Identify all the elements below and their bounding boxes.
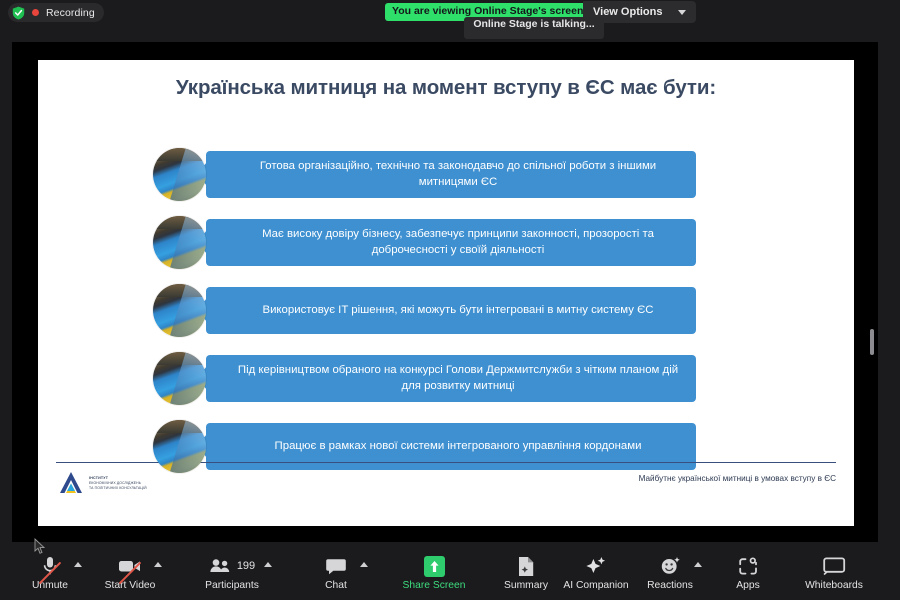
logo-line-2: ЕКОНОМІЧНИХ ДОСЛІДЖЕНЬ bbox=[89, 481, 147, 485]
ai-companion-button[interactable]: AI Companion bbox=[568, 546, 624, 600]
recording-dot-icon bbox=[32, 9, 39, 16]
participants-button[interactable]: 199 Participants bbox=[204, 546, 260, 600]
chevron-down-icon bbox=[678, 10, 686, 15]
start-video-button[interactable]: Start Video bbox=[102, 546, 158, 600]
meeting-toolbar: Unmute Start Video bbox=[0, 546, 900, 600]
reactions-smiley-icon bbox=[660, 555, 681, 577]
chat-bubble-icon bbox=[326, 555, 346, 577]
slide-title: Українська митниця на момент вступу в ЄС… bbox=[38, 76, 854, 100]
ukraine-flag-circle-icon bbox=[153, 284, 206, 337]
list-item: Має високу довіру бізнесу, забезпечує пр… bbox=[38, 216, 854, 269]
apps-button[interactable]: Apps bbox=[720, 546, 776, 600]
list-item: Готова організаційно, технічно та законо… bbox=[38, 148, 854, 201]
ai-companion-label: AI Companion bbox=[563, 580, 628, 591]
whiteboard-icon bbox=[823, 555, 846, 577]
talking-toast: Online Stage is talking... bbox=[464, 17, 604, 39]
participants-label: Participants bbox=[205, 580, 259, 591]
bullet-text: Має високу довіру бізнесу, забезпечує пр… bbox=[232, 227, 684, 258]
chat-button[interactable]: Chat bbox=[308, 546, 364, 600]
whiteboards-button[interactable]: Whiteboards bbox=[806, 546, 862, 600]
ukraine-flag-circle-icon bbox=[153, 216, 206, 269]
summary-doc-icon bbox=[517, 555, 535, 577]
camera-off-icon bbox=[118, 555, 142, 577]
unmute-button[interactable]: Unmute bbox=[22, 546, 78, 600]
unmute-label: Unmute bbox=[32, 580, 68, 591]
whiteboards-label: Whiteboards bbox=[805, 580, 863, 591]
slide-bullet-list: Готова організаційно, технічно та законо… bbox=[38, 148, 854, 488]
share-screen-icon bbox=[424, 555, 445, 577]
ukraine-flag-circle-icon bbox=[153, 352, 206, 405]
recording-indicator-group[interactable]: Recording bbox=[8, 3, 104, 22]
chat-label: Chat bbox=[325, 580, 347, 591]
institute-logo: ІНСТИТУТ ЕКОНОМІЧНИХ ДОСЛІДЖЕНЬ ТА ПОЛІТ… bbox=[58, 470, 147, 496]
chevron-up-icon[interactable] bbox=[154, 562, 162, 567]
ukraine-flag-circle-icon bbox=[153, 148, 206, 201]
bullet-text: Працює в рамках нової системи інтегрован… bbox=[275, 439, 642, 454]
bullet-bar: Має високу довіру бізнесу, забезпечує пр… bbox=[206, 219, 696, 266]
mouse-cursor bbox=[34, 538, 46, 560]
shared-view-scroll-handle[interactable] bbox=[870, 329, 874, 355]
presentation-slide: Українська митниця на момент вступу в ЄС… bbox=[38, 60, 854, 526]
summary-button[interactable]: Summary bbox=[498, 546, 554, 600]
bullet-bar: Використовує IT рішення, які можуть бути… bbox=[206, 287, 696, 334]
summary-label: Summary bbox=[504, 580, 548, 591]
bullet-bar: Готова організаційно, технічно та законо… bbox=[206, 151, 696, 198]
apps-icon bbox=[738, 555, 759, 577]
share-screen-button[interactable]: Share Screen bbox=[406, 546, 462, 600]
ukraine-flag-circle-icon bbox=[153, 420, 206, 473]
slide-footnote: Майбутнє української митниці в умовах вс… bbox=[639, 474, 836, 483]
chevron-up-icon[interactable] bbox=[264, 562, 272, 567]
zoom-meeting-window: Recording Online Stage is talking... You… bbox=[0, 0, 900, 600]
bullet-bar: Під керівництвом обраного на конкурсі Го… bbox=[206, 355, 696, 402]
list-item: Використовує IT рішення, які можуть бути… bbox=[38, 284, 854, 337]
bullet-text: Під керівництвом обраного на конкурсі Го… bbox=[232, 363, 684, 394]
ai-sparkle-icon bbox=[584, 555, 608, 577]
apps-label: Apps bbox=[736, 580, 759, 591]
view-options-label: View Options bbox=[593, 6, 662, 18]
logo-line-1: ІНСТИТУТ bbox=[89, 476, 147, 480]
shared-screen-area[interactable]: Українська митниця на момент вступу в ЄС… bbox=[12, 42, 878, 542]
shield-check-icon bbox=[12, 6, 25, 20]
list-item: Працює в рамках нової системи інтегрован… bbox=[38, 420, 854, 473]
meeting-top-bar: Recording Online Stage is talking... You… bbox=[0, 0, 900, 24]
list-item: Під керівництвом обраного на конкурсі Го… bbox=[38, 352, 854, 405]
participants-icon: 199 bbox=[209, 555, 255, 577]
institute-logo-icon bbox=[58, 470, 84, 496]
chevron-up-icon[interactable] bbox=[74, 562, 82, 567]
reactions-label: Reactions bbox=[647, 580, 693, 591]
bullet-text: Використовує IT рішення, які можуть бути… bbox=[262, 303, 653, 318]
notes-button[interactable]: Notes bbox=[894, 546, 900, 600]
institute-logo-text: ІНСТИТУТ ЕКОНОМІЧНИХ ДОСЛІДЖЕНЬ ТА ПОЛІТ… bbox=[89, 476, 147, 490]
participants-count: 199 bbox=[237, 560, 255, 572]
logo-line-3: ТА ПОЛІТИЧНИХ КОНСУЛЬТАЦІЙ bbox=[89, 486, 147, 490]
chevron-up-icon[interactable] bbox=[360, 562, 368, 567]
recording-label: Recording bbox=[46, 7, 95, 19]
chevron-up-icon[interactable] bbox=[694, 562, 702, 567]
share-screen-label: Share Screen bbox=[403, 580, 466, 591]
bullet-text: Готова організаційно, технічно та законо… bbox=[232, 159, 684, 190]
start-video-label: Start Video bbox=[105, 580, 156, 591]
reactions-button[interactable]: Reactions bbox=[642, 546, 698, 600]
